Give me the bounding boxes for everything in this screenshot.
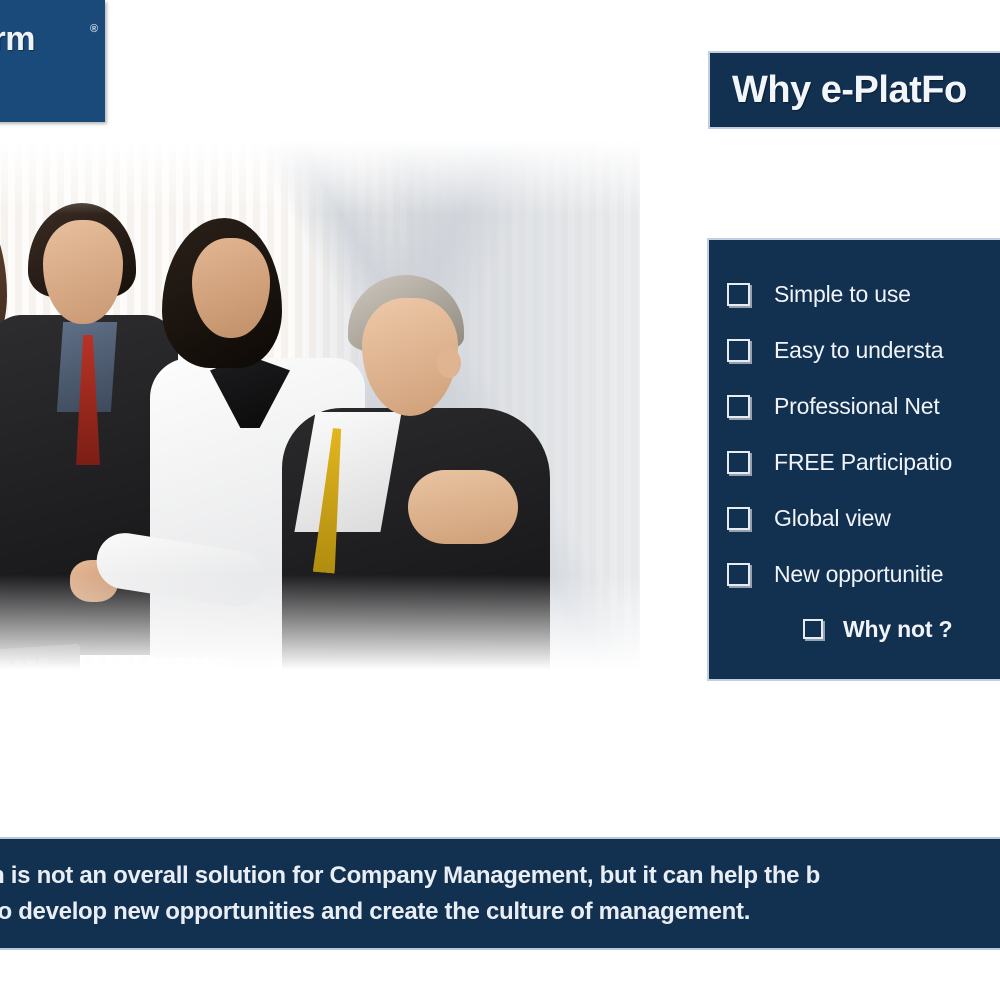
footer-banner-line-2: or to develop new opportunities and crea… <box>0 894 1000 930</box>
list-item-label: Simple to use <box>774 281 911 308</box>
list-item[interactable]: Simple to use <box>727 266 1000 322</box>
list-item-label: Why not ? <box>843 616 952 643</box>
empty-checkbox-icon <box>727 339 750 362</box>
slide-title-panel: Why e-PlatFo <box>708 51 1000 129</box>
list-item[interactable]: Easy to understa <box>727 322 1000 378</box>
benefits-panel: Simple to use Easy to understa Professio… <box>707 238 1000 681</box>
list-item-sub[interactable]: Why not ? <box>803 602 1000 656</box>
list-item-label: New opportunitie <box>774 561 943 588</box>
empty-checkbox-icon <box>727 451 750 474</box>
page-title: Why e-PlatFo <box>710 69 967 112</box>
list-item-label: Global view <box>774 505 891 532</box>
list-item[interactable]: Professional Net <box>727 378 1000 434</box>
person-4-ear <box>437 348 461 378</box>
business-team-photo <box>0 140 640 670</box>
empty-checkbox-icon <box>803 619 823 639</box>
empty-checkbox-icon <box>727 283 750 306</box>
footer-banner-line-1: orm is not an overall solution for Compa… <box>0 858 1000 894</box>
empty-checkbox-icon <box>727 563 750 586</box>
list-item-label: Easy to understa <box>774 337 943 364</box>
list-item[interactable]: New opportunitie <box>727 546 1000 602</box>
person-4-extended-arm <box>408 470 518 544</box>
list-item[interactable]: Global view <box>727 490 1000 546</box>
footer-banner: orm is not an overall solution for Compa… <box>0 837 1000 950</box>
slide-canvas: Form ® choice Why e-PlatFo <box>0 0 1000 1000</box>
benefits-list: Simple to use Easy to understa Professio… <box>727 266 1000 656</box>
list-item-label: FREE Participatio <box>774 449 952 476</box>
registered-trademark-icon: ® <box>90 24 98 35</box>
empty-checkbox-icon <box>727 507 750 530</box>
empty-checkbox-icon <box>727 395 750 418</box>
brand-logo[interactable]: Form ® choice <box>0 0 105 122</box>
list-item[interactable]: FREE Participatio <box>727 434 1000 490</box>
logo-wordmark: Form <box>0 22 35 56</box>
list-item-label: Professional Net <box>774 393 940 420</box>
